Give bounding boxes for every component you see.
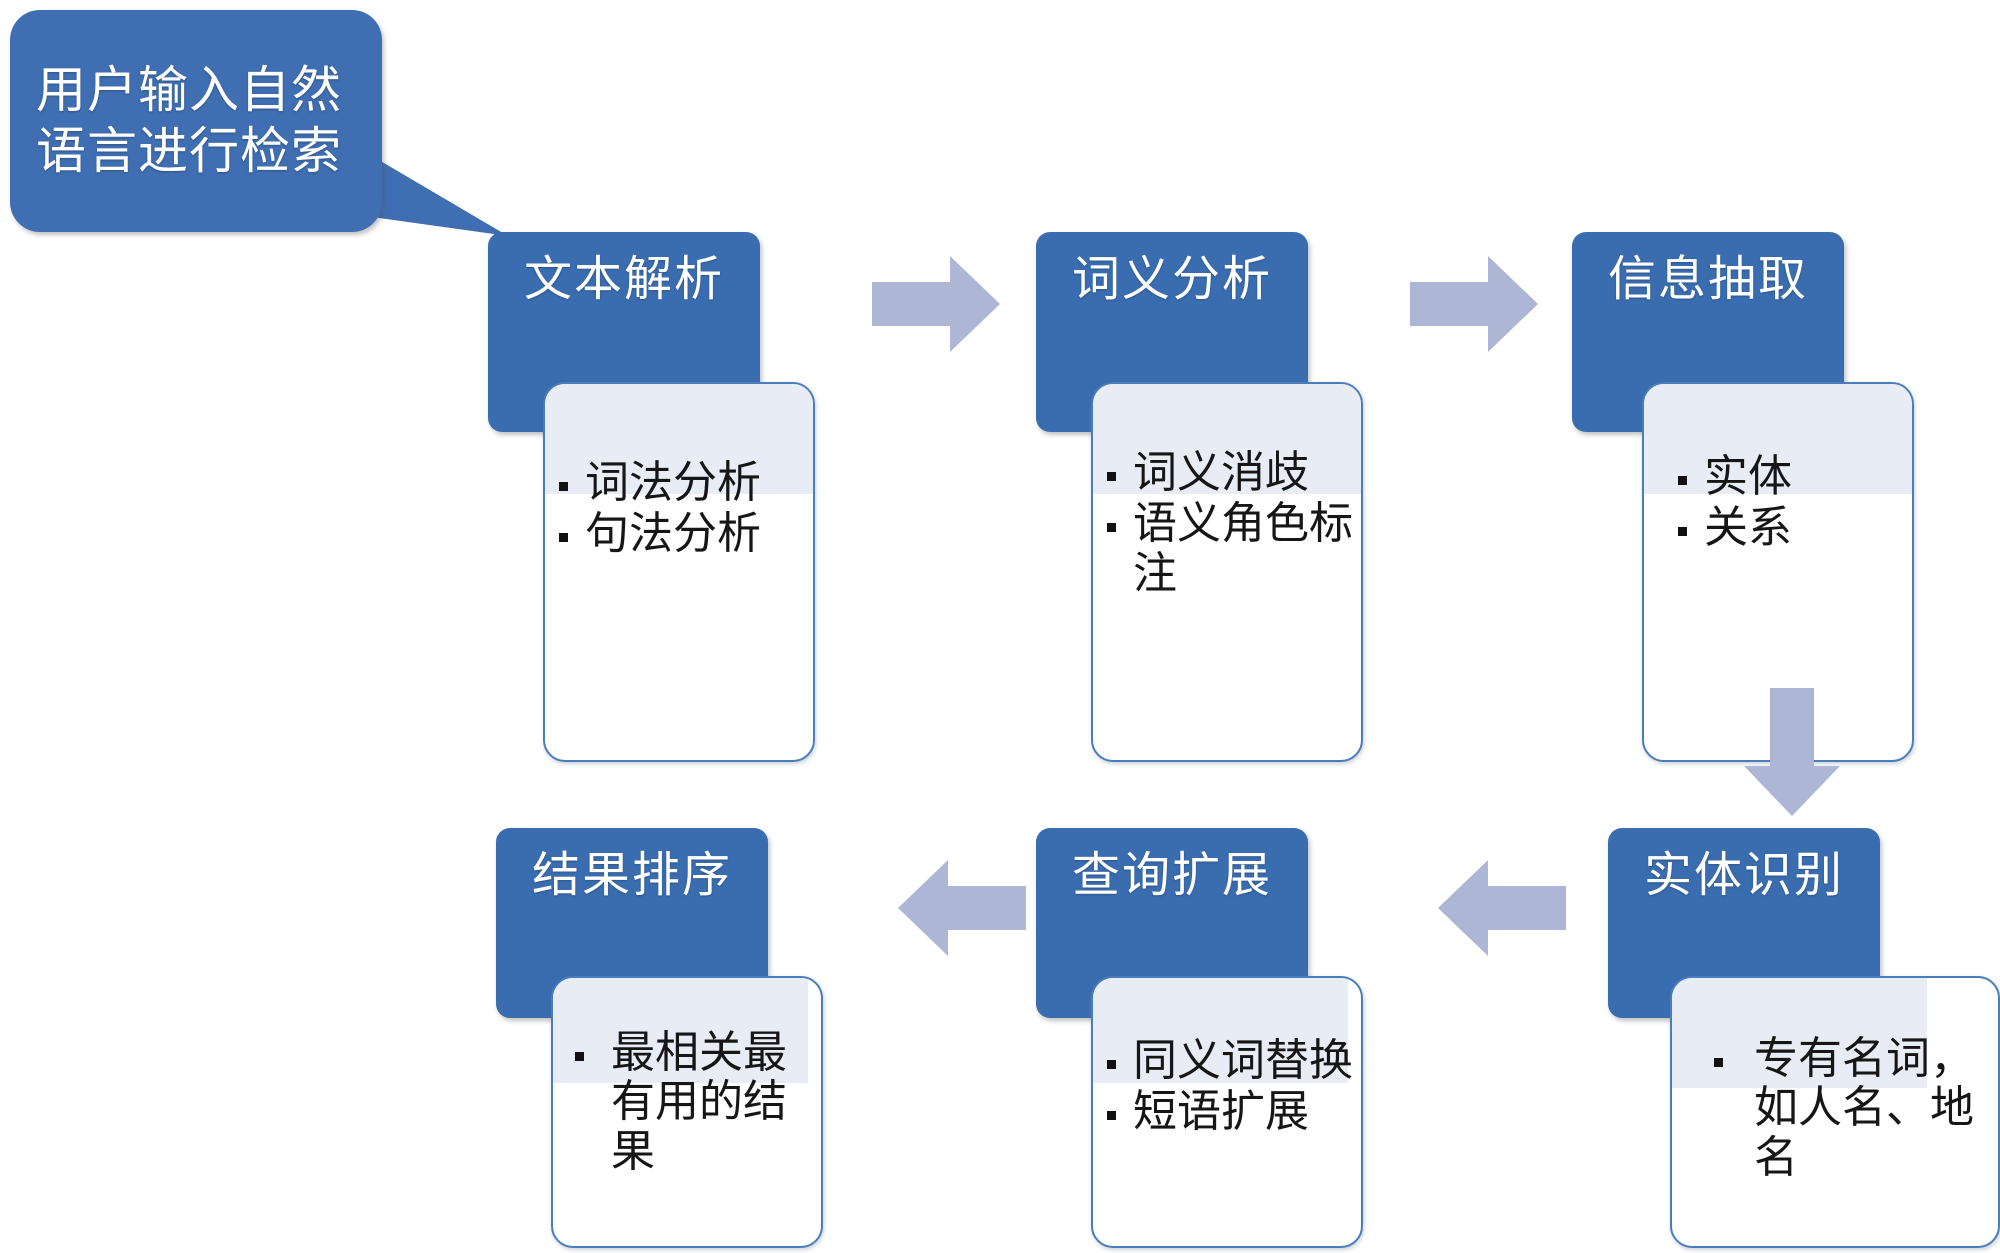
callout-text: 用户输入自然 语言进行检索 [36, 60, 342, 182]
node-card-result-ranking: 最相关最有用的结果 [551, 976, 823, 1248]
node-title: 词义分析 [1072, 254, 1272, 307]
node-text-parsing[interactable]: 文本解析 词法分析 句法分析 [488, 232, 788, 742]
bullet-list: 实体 关系 [1670, 452, 1912, 553]
list-item: 语义角色标注 [1099, 499, 1361, 598]
arrow-down-3 [1742, 688, 1852, 818]
node-card-query-expansion: 同义词替换 短语扩展 [1091, 976, 1363, 1248]
bullet-list: 同义词替换 短语扩展 [1099, 1036, 1361, 1137]
callout-body: 用户输入自然 语言进行检索 [10, 10, 382, 232]
node-semantic-analysis[interactable]: 词义分析 词义消歧 语义角色标注 [1036, 232, 1336, 742]
node-title: 查询扩展 [1072, 850, 1272, 903]
bullet-list: 最相关最有用的结果 [567, 1028, 821, 1176]
list-item: 短语扩展 [1099, 1087, 1361, 1136]
list-item: 同义词替换 [1099, 1036, 1361, 1085]
bullet-list: 词法分析 句法分析 [551, 458, 813, 559]
node-information-extraction[interactable]: 信息抽取 实体 关系 [1572, 232, 1872, 742]
list-item: 关系 [1670, 503, 1912, 552]
node-result-ranking[interactable]: 结果排序 最相关最有用的结果 [496, 828, 796, 1253]
node-title: 结果排序 [532, 850, 732, 903]
arrow-right-2 [1410, 254, 1540, 354]
arrow-left-4 [1438, 858, 1568, 958]
arrow-left-5 [898, 858, 1028, 958]
list-item: 专有名词，如人名、地名 [1706, 1034, 1998, 1182]
node-title: 文本解析 [524, 254, 724, 307]
list-item: 实体 [1670, 452, 1912, 501]
arrow-right-1 [872, 254, 1002, 354]
list-item: 词义消歧 [1099, 448, 1361, 497]
list-item: 词法分析 [551, 458, 813, 507]
node-card-text-parsing: 词法分析 句法分析 [543, 382, 815, 762]
node-card-semantic-analysis: 词义消歧 语义角色标注 [1091, 382, 1363, 762]
callout-bubble: 用户输入自然 语言进行检索 [8, 8, 508, 248]
node-entity-recognition[interactable]: 实体识别 专有名词，如人名、地名 [1608, 828, 2000, 1253]
node-title: 信息抽取 [1608, 254, 1808, 307]
node-title: 实体识别 [1644, 850, 1844, 903]
node-card-entity-recognition: 专有名词，如人名、地名 [1670, 976, 2000, 1248]
list-item: 最相关最有用的结果 [567, 1028, 821, 1176]
node-query-expansion[interactable]: 查询扩展 同义词替换 短语扩展 [1036, 828, 1336, 1253]
diagram-canvas: 用户输入自然 语言进行检索 文本解析 词法分析 句法分析 词义分析 词义消歧 [0, 0, 2000, 1253]
list-item: 句法分析 [551, 509, 813, 558]
bullet-list: 词义消歧 语义角色标注 [1099, 448, 1361, 598]
bullet-list: 专有名词，如人名、地名 [1706, 1034, 1998, 1182]
